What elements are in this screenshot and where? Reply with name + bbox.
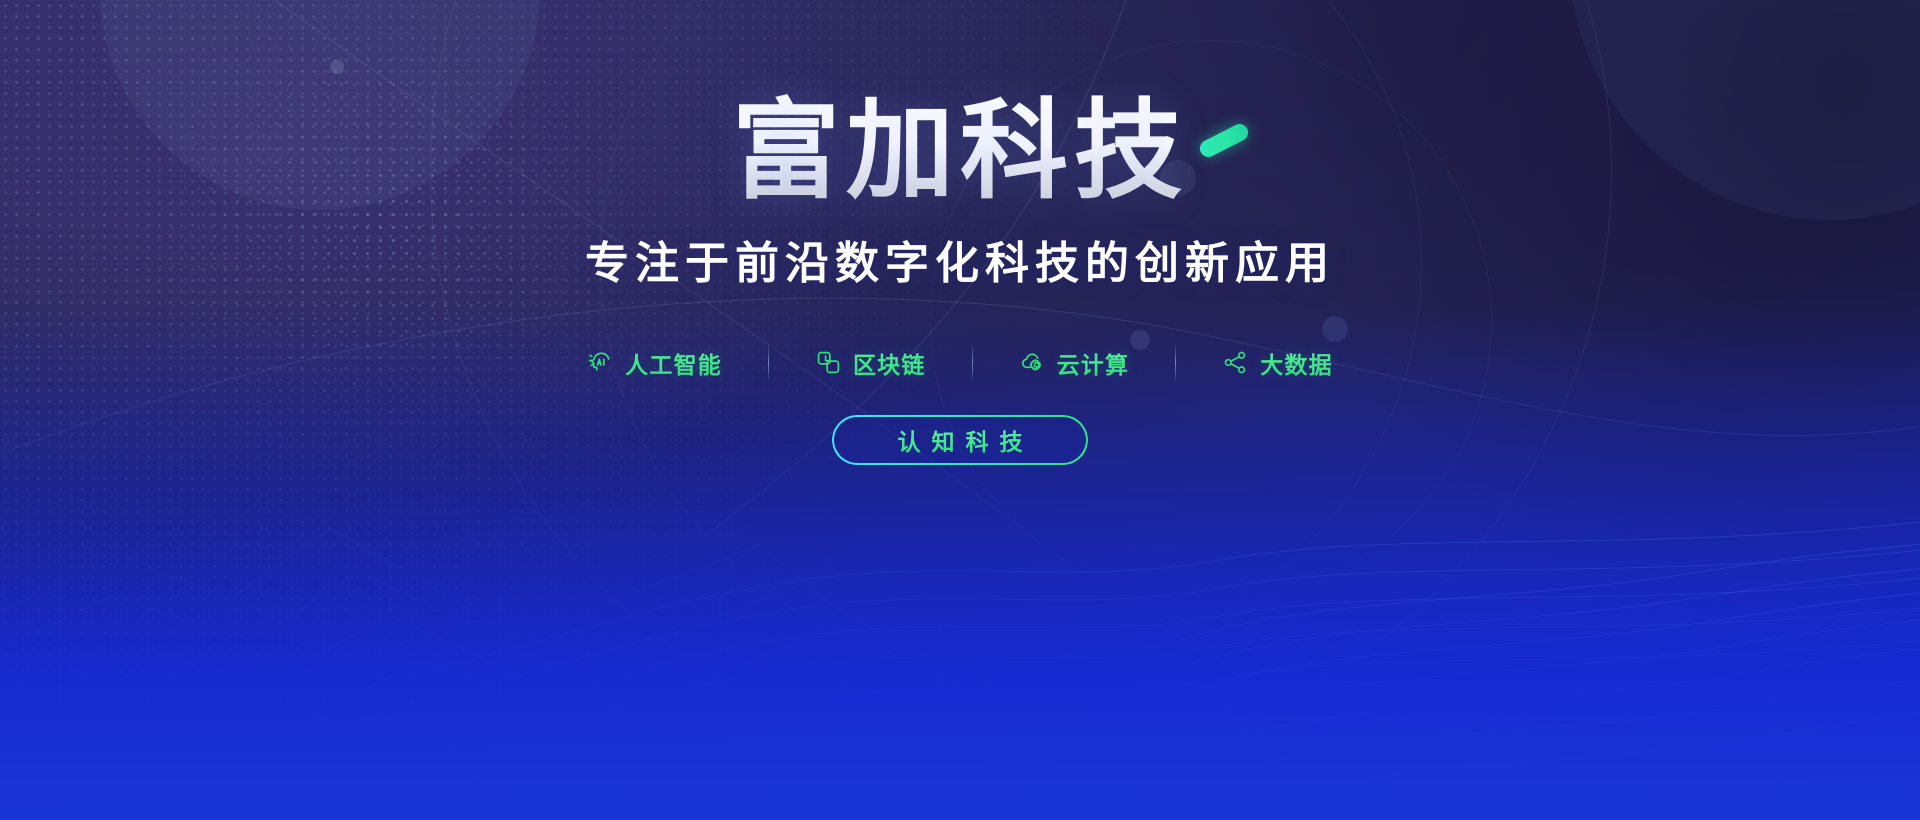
brand-title-text: 富加科技 [732, 89, 1188, 214]
feature-tag-label: 区块链 [853, 346, 926, 380]
cta-button-label: 认知科技 [887, 423, 1034, 457]
title-accent-stroke [1197, 121, 1251, 160]
cta-button[interactable]: 认知科技 [832, 415, 1088, 465]
feature-tag-blockchain[interactable]: 区块链 [769, 346, 972, 380]
feature-tag-list: 人工智能 区块链 云计算 [541, 343, 1379, 383]
feature-tag-label: 人工智能 [625, 346, 722, 380]
hero-banner: 富加科技 专注于前沿数字化科技的创新应用 人工智能 [0, 0, 1920, 820]
feature-tag-cloud[interactable]: 云计算 [973, 346, 1176, 380]
page-title: 富加科技 [732, 92, 1188, 213]
cloud-gear-icon [1019, 349, 1046, 376]
hero-subtitle: 专注于前沿数字化科技的创新应用 [585, 227, 1335, 291]
feature-tag-ai[interactable]: 人工智能 [541, 346, 768, 380]
hero-content: 富加科技 专注于前沿数字化科技的创新应用 人工智能 [0, 0, 1920, 820]
ai-head-icon [587, 349, 614, 376]
share-nodes-icon [1222, 349, 1249, 376]
feature-tag-label: 云计算 [1057, 346, 1130, 380]
blockchain-blocks-icon [815, 349, 842, 376]
feature-tag-label: 大数据 [1260, 346, 1333, 380]
feature-tag-bigdata[interactable]: 大数据 [1176, 346, 1379, 380]
